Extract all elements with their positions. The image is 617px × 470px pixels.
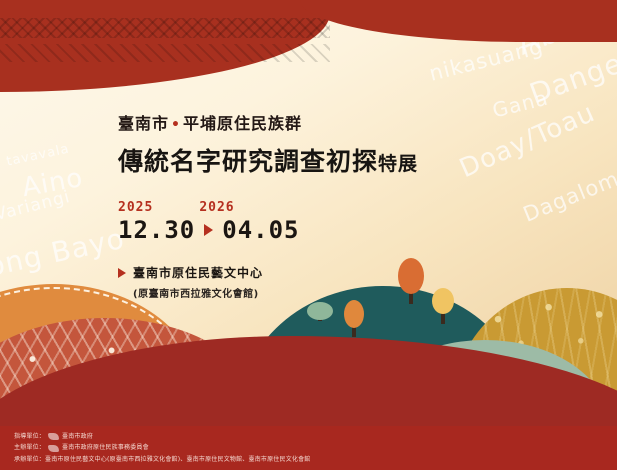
footer-row-executor: 承辦單位： 臺南市原住民藝文中心(原臺南市西拉雅文化會館)、臺南市原住民文物館、… — [14, 454, 617, 465]
venue-arrow-icon — [118, 268, 126, 278]
executor-label: 承辦單位： — [14, 454, 45, 465]
subtitle-dot: • — [169, 117, 183, 133]
subtitle-group: 平埔原住民族群 — [183, 114, 302, 133]
start-year: 2025 — [118, 200, 153, 215]
organizer-label: 主辦單位： — [14, 442, 45, 453]
advisor-value: 臺南市政府 — [62, 431, 93, 442]
title-suffix: 特展 — [378, 153, 418, 175]
subtitle-city: 臺南市 — [118, 114, 169, 133]
exhibition-dates: 20252026 12.30 04.05 — [118, 200, 518, 244]
tree-sage — [307, 302, 333, 329]
tree-orange-low — [344, 300, 364, 350]
organizer-logo-icon — [48, 445, 59, 452]
venue-text-group: 臺南市原住民藝文中心 (原臺南市西拉雅文化會館) — [133, 264, 263, 300]
top-banner-tail — [300, 0, 617, 42]
venue-former-name: (原臺南市西拉雅文化會館) — [133, 285, 263, 300]
venue-name: 臺南市原住民藝文中心 — [133, 264, 263, 281]
advisor-label: 指導單位： — [14, 431, 45, 442]
title-main: 傳統名字研究調查初探 — [118, 147, 378, 176]
end-date: 04.05 — [222, 216, 299, 244]
footer-row-advisor: 指導單位： 臺南市政府 — [14, 431, 617, 442]
footer-credits: 指導單位： 臺南市政府 主辦單位： 臺南市政府原住民族事務委員會 承辦單位： 臺… — [0, 426, 617, 470]
organizer-value: 臺南市政府原住民族事務委員會 — [62, 442, 149, 453]
advisor-logo-icon — [48, 433, 59, 440]
tree-canopy — [307, 302, 333, 320]
date-day-row: 12.30 04.05 — [118, 216, 518, 244]
background-name-2: Dange — [525, 46, 617, 110]
poster-text-block: 臺南市•平埔原住民族群 傳統名字研究調查初探特展 20252026 12.30 … — [118, 110, 518, 300]
exhibition-poster: AbahenikasuangDangeGanaDoay/ToauDagaloma… — [0, 0, 617, 470]
poster-subtitle: 臺南市•平埔原住民族群 — [118, 110, 518, 134]
executor-value: 臺南市原住民藝文中心(原臺南市西拉雅文化會館)、臺南市原住民文物館、臺南市原住民… — [45, 454, 310, 465]
date-arrow-icon — [204, 224, 213, 236]
venue-block: 臺南市原住民藝文中心 (原臺南市西拉雅文化會館) — [118, 264, 518, 300]
top-banner-pattern — [0, 0, 330, 92]
date-year-row: 20252026 — [118, 200, 518, 215]
page-title: 傳統名字研究調查初探特展 — [118, 142, 518, 178]
tree-canopy — [344, 300, 364, 328]
start-date: 12.30 — [118, 216, 195, 244]
background-name-6: tavavala — [5, 142, 71, 170]
end-year: 2026 — [199, 200, 234, 215]
footer-row-organizer: 主辦單位： 臺南市政府原住民族事務委員會 — [14, 442, 617, 453]
